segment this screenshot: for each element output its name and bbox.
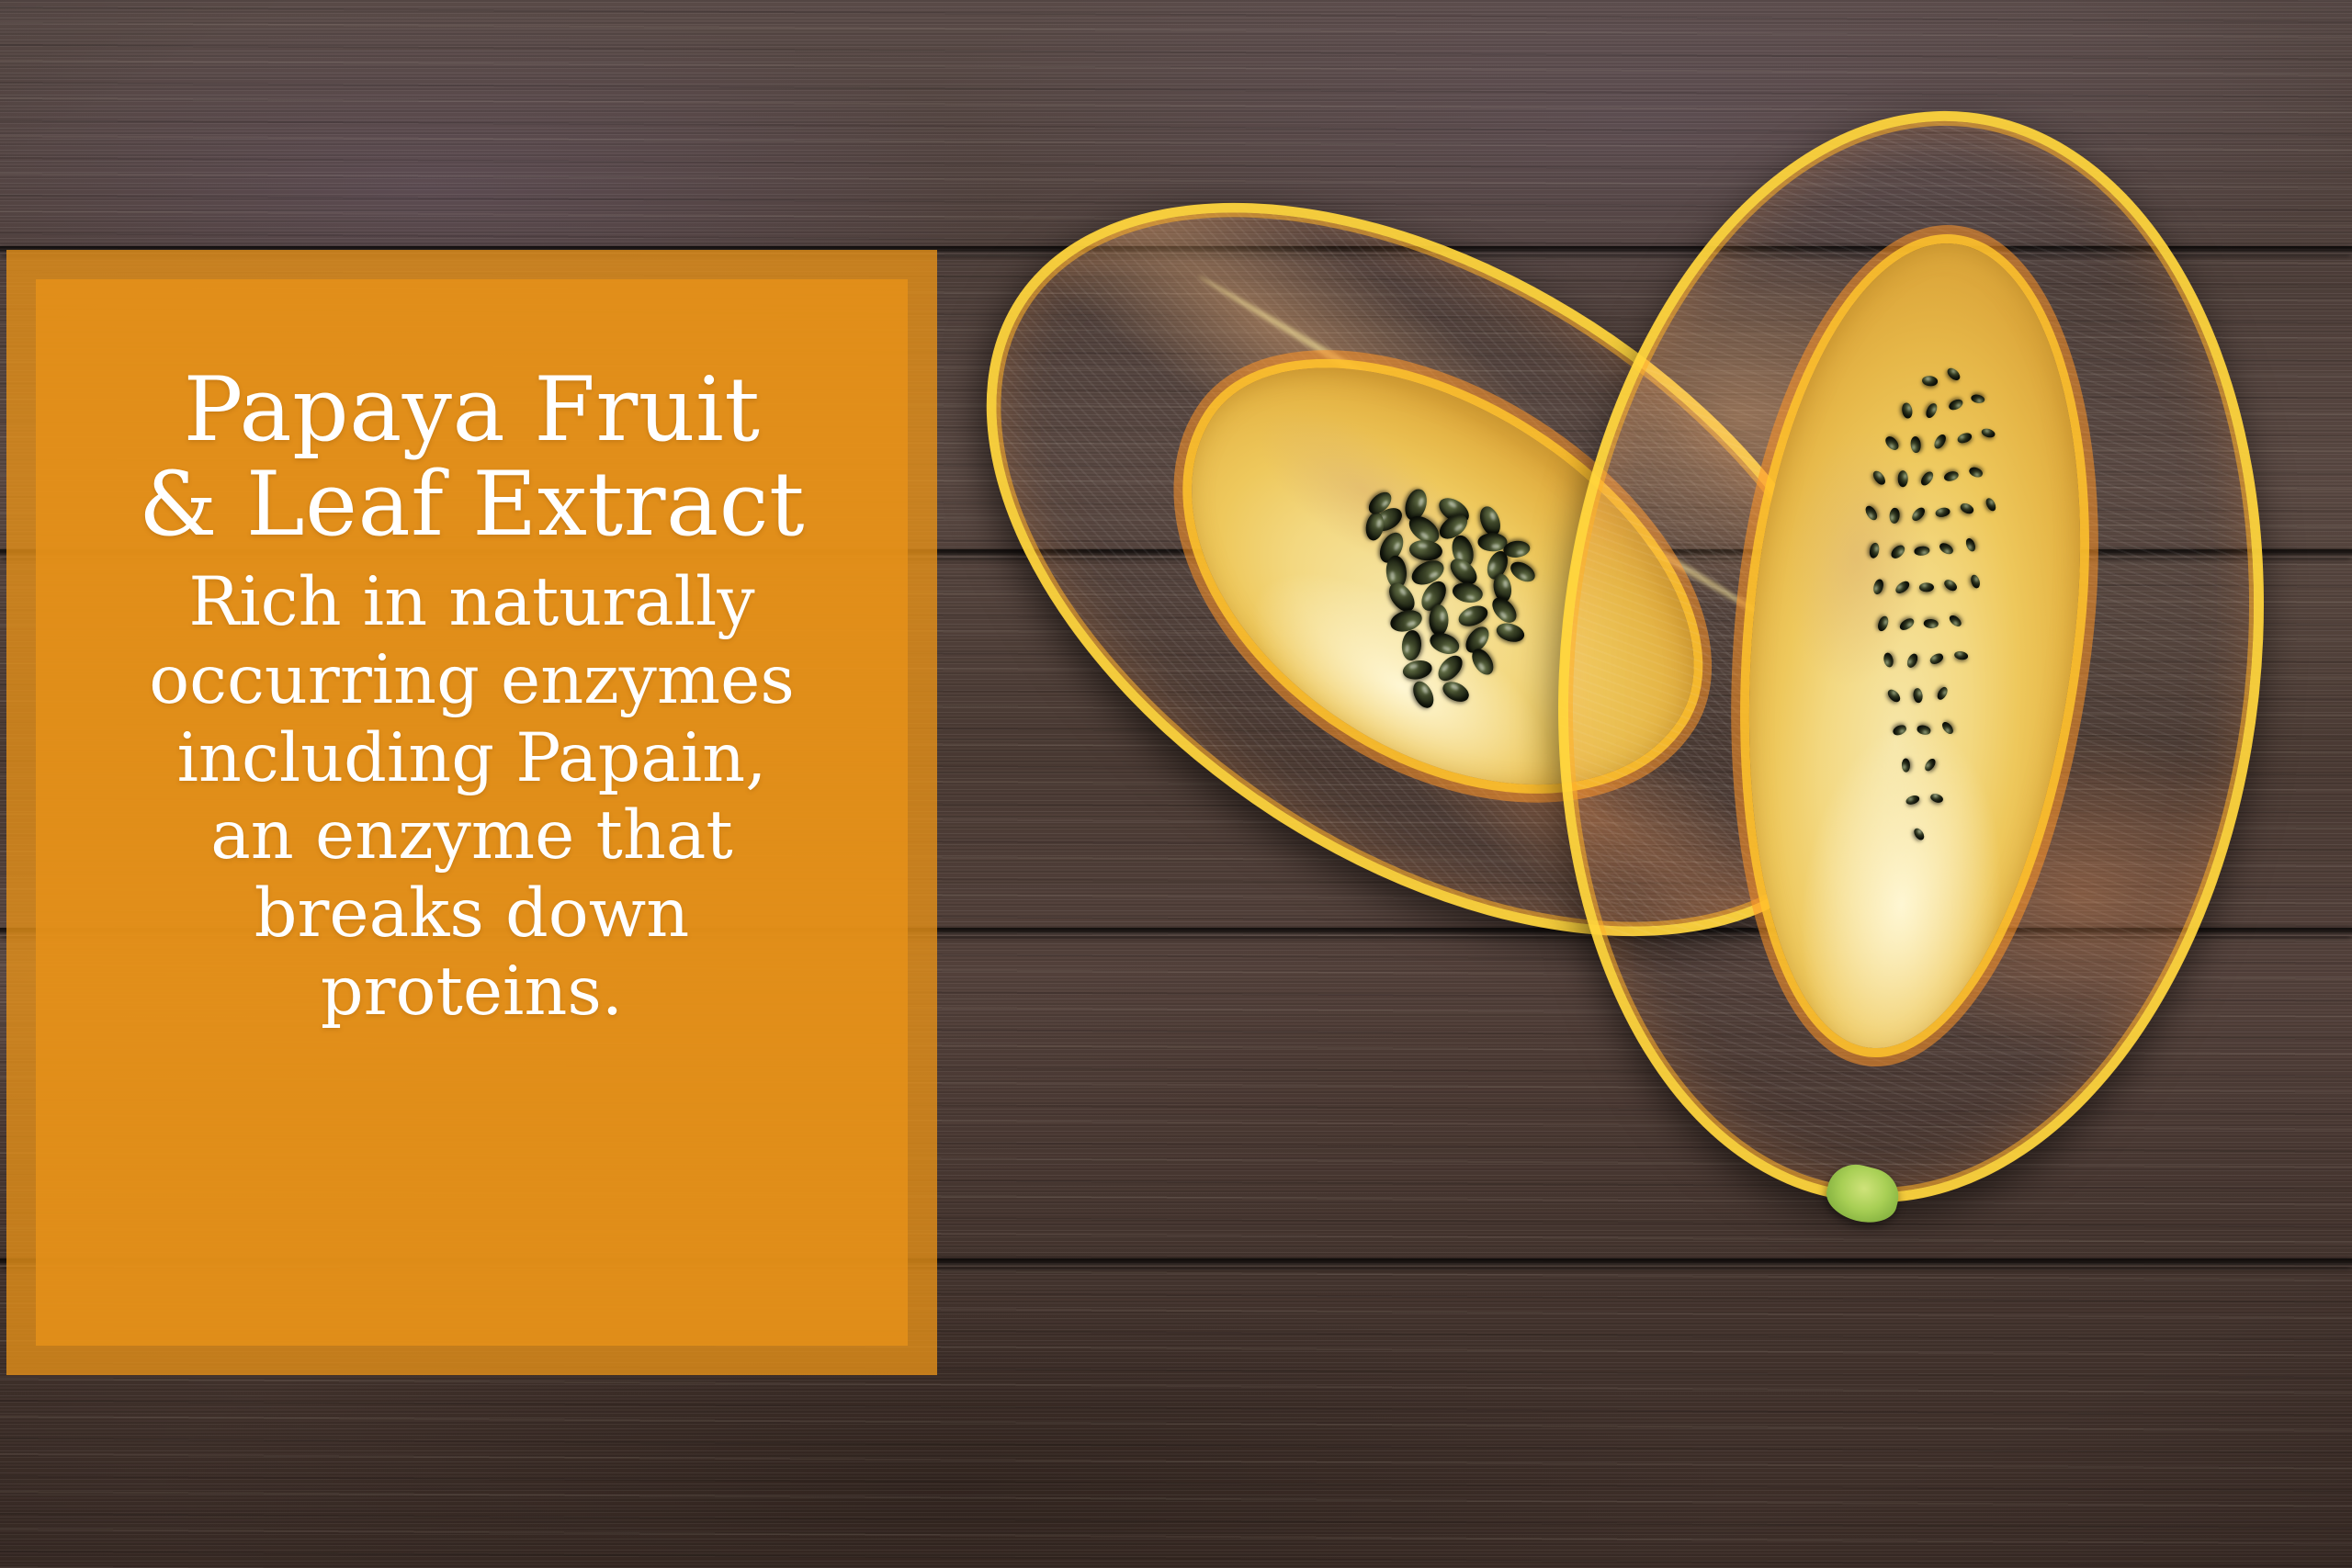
papaya-seed <box>1450 581 1484 605</box>
papaya-seed <box>1953 650 1968 660</box>
papaya-seed <box>1905 652 1920 670</box>
papaya-seed <box>1388 607 1424 635</box>
papaya-seed <box>1889 543 1907 561</box>
papaya-seed <box>1921 376 1938 387</box>
papaya-seed <box>1916 724 1931 736</box>
papaya-seed <box>1910 506 1928 525</box>
papaya-seed <box>1984 497 1998 513</box>
papaya-seed <box>1872 579 1885 596</box>
papaya-seed <box>1488 593 1521 627</box>
papaya-seed <box>1871 469 1888 488</box>
panel-text-block: Papaya Fruit & Leaf Extract Rich in natu… <box>85 328 859 1297</box>
papaya-seed <box>1455 602 1490 630</box>
body-line-1: Rich in naturally <box>149 564 795 642</box>
body-line-5: breaks down <box>149 875 795 953</box>
body-line-6: proteins. <box>149 953 795 1032</box>
papaya-seed <box>1894 580 1912 597</box>
papaya-seed <box>1959 502 1975 515</box>
papaya-seed <box>1914 546 1929 557</box>
papaya-seed <box>1892 724 1908 738</box>
papaya-seed <box>1868 542 1880 558</box>
papaya-seed <box>1935 685 1950 702</box>
papaya-seed <box>1401 629 1423 661</box>
papaya-seed <box>1924 618 1939 628</box>
papaya-seed <box>1923 401 1939 420</box>
papaya-half-right <box>1507 77 2315 1237</box>
papaya-seed <box>1876 615 1890 632</box>
papaya-seed <box>1902 759 1911 773</box>
poster-canvas: Papaya Fruit & Leaf Extract Rich in natu… <box>0 0 2352 1568</box>
headline-line-2: & Leaf Extract <box>139 453 805 556</box>
papaya-seed <box>1440 678 1472 705</box>
papaya-seed <box>1898 471 1908 488</box>
papaya-seed <box>1494 620 1526 645</box>
papaya-seed <box>1918 469 1936 488</box>
papaya-seed <box>1901 402 1914 420</box>
papaya-seed <box>1889 507 1900 524</box>
papaya-seed <box>1935 506 1951 518</box>
headline-line-1: Papaya Fruit <box>184 358 761 461</box>
papaya-seed <box>1919 582 1934 592</box>
papaya-seed <box>1401 659 1433 682</box>
papaya-seed <box>1932 434 1948 451</box>
papaya-seed <box>1913 826 1927 840</box>
papaya-seed <box>1971 393 1986 404</box>
papaya-seed <box>1945 366 1962 382</box>
papaya-seed <box>1910 436 1921 453</box>
papaya-seed <box>1898 616 1916 633</box>
papaya-seed <box>1938 541 1955 557</box>
page-title: Papaya Fruit & Leaf Extract <box>139 363 805 551</box>
body-line-2: occurring enzymes <box>149 642 795 720</box>
papaya-seed <box>1883 434 1901 453</box>
papaya-seed <box>1468 646 1498 679</box>
papaya-seed <box>1942 577 1959 592</box>
papaya-seed <box>1956 432 1973 446</box>
body-line-4: an enzyme that <box>149 797 795 875</box>
papaya-seed <box>1913 688 1924 704</box>
papaya-seed <box>1943 469 1960 482</box>
papaya-seed <box>1507 558 1538 587</box>
papaya-seed <box>1948 614 1963 629</box>
papaya-seed <box>1923 757 1938 773</box>
papaya-seed <box>1408 538 1443 562</box>
papaya-seed <box>1905 795 1920 807</box>
papaya-seed <box>1409 678 1438 711</box>
papaya-seed <box>1429 604 1448 636</box>
description-text: Rich in naturally occurring enzymes incl… <box>149 564 795 1031</box>
papaya-seed <box>1947 398 1963 412</box>
papaya-seed <box>1964 536 1977 552</box>
body-line-3: including Papain, <box>149 720 795 798</box>
papaya-seed <box>1929 793 1944 805</box>
papaya-seed <box>1928 651 1945 666</box>
papaya-seed <box>1981 427 1996 439</box>
papaya-seed <box>1940 720 1955 736</box>
papaya-seed <box>1969 573 1981 589</box>
text-overlay-panel: Papaya Fruit & Leaf Extract Rich in natu… <box>6 250 937 1375</box>
papaya-seed <box>1883 651 1894 668</box>
papaya-seed <box>1433 651 1466 685</box>
papaya-seed <box>1427 629 1463 658</box>
papaya-seed <box>1885 688 1902 705</box>
papaya-seed <box>1863 504 1879 522</box>
papaya-seed <box>1967 466 1984 479</box>
